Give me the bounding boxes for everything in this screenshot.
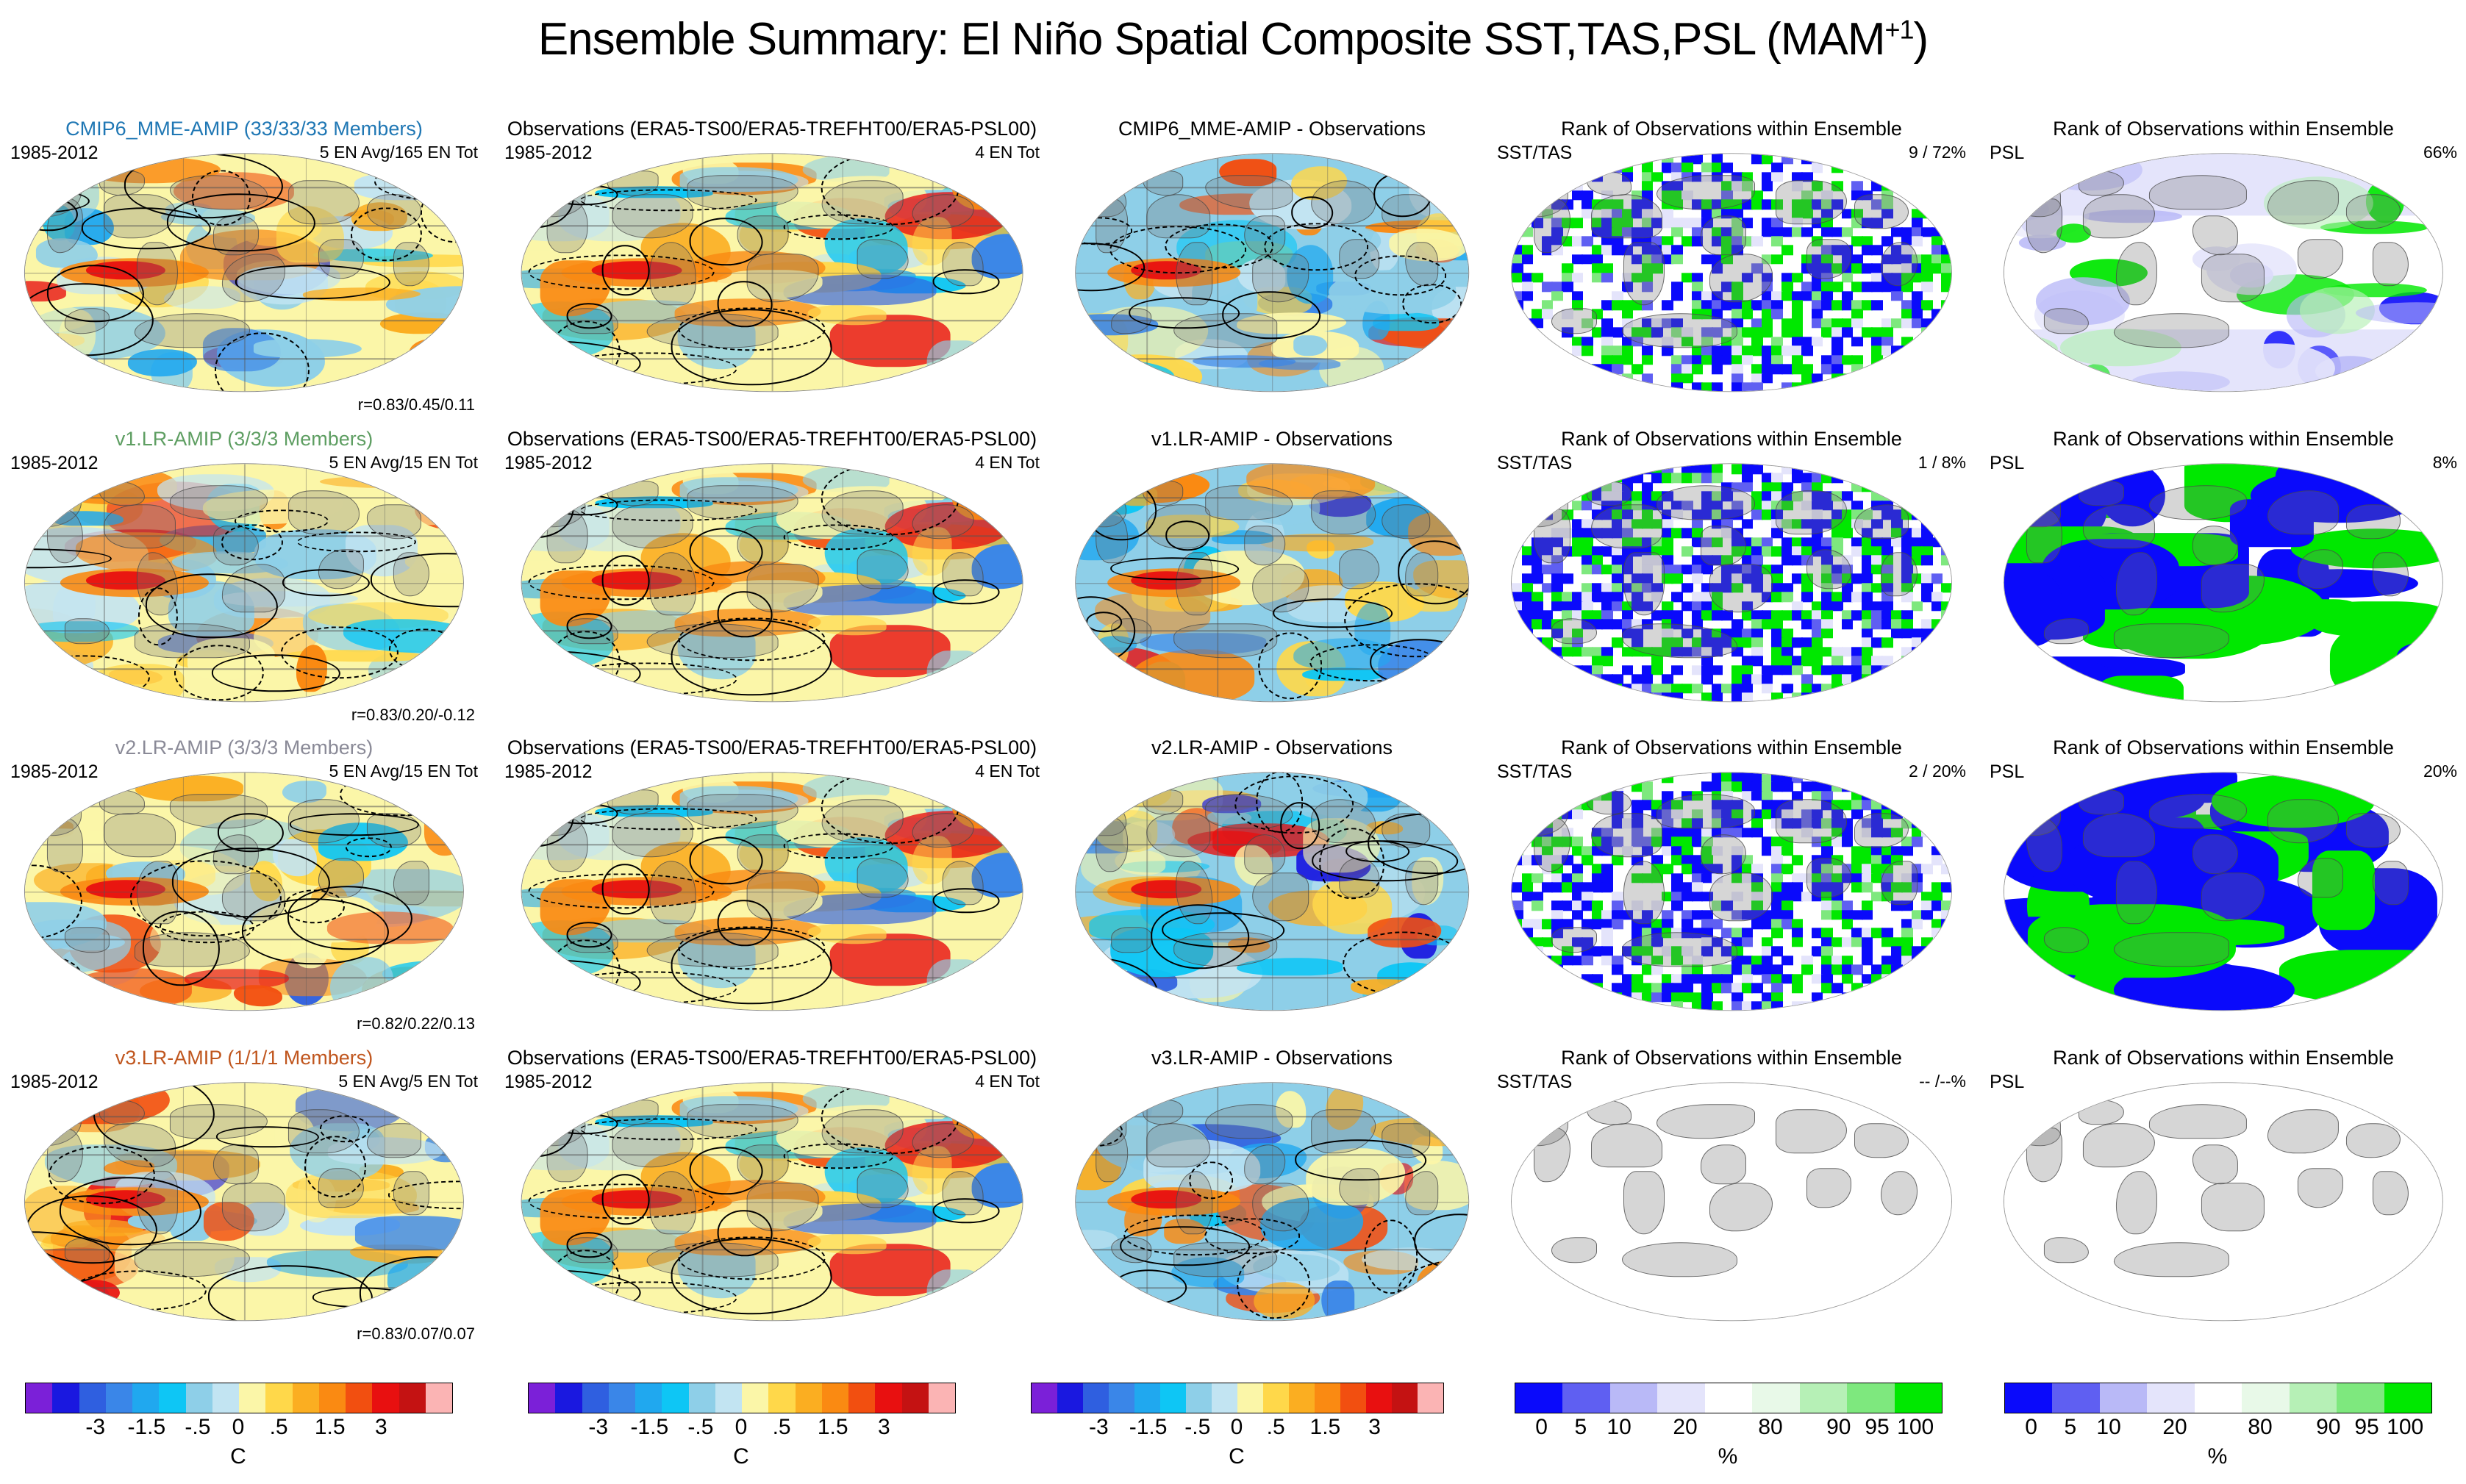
colorbar-tick: 0: [2025, 1415, 2037, 1440]
globe-observations: [500, 770, 1044, 1013]
panel-rank-sst-row2: Rank of Observations within EnsembleSST/…: [1493, 428, 1970, 729]
colorbar-swatch: [902, 1383, 929, 1413]
colorbar-tick: 95: [2354, 1415, 2379, 1440]
panel-difference-row1: CMIP6_MME-AMIP - Observations: [1059, 118, 1485, 419]
colorbar-tick: 3: [375, 1415, 387, 1440]
colorbar-swatch: [1263, 1383, 1289, 1413]
colorbar-swatch: [1289, 1383, 1315, 1413]
colorbar-swatch: [609, 1383, 635, 1413]
colorbar-tick: .5: [1267, 1415, 1285, 1440]
colorbar-tick: 10: [1607, 1415, 1631, 1440]
panel-rank-sst-row4: Rank of Observations within EnsembleSST/…: [1493, 1047, 1970, 1348]
difference-title: v3.LR-AMIP - Observations: [1059, 1047, 1485, 1069]
colorbar-swatch: [1705, 1383, 1752, 1413]
colorbar-tick: 1.5: [818, 1415, 848, 1440]
colorbar-swatch: [1800, 1383, 1847, 1413]
colorbar-tick: -3: [1089, 1415, 1109, 1440]
colorbar-unit: C: [25, 1444, 451, 1469]
colorbar-swatch: [1418, 1383, 1443, 1413]
panel-model-row2: v1.LR-AMIP (3/3/3 Members)1985-20125 EN …: [6, 428, 482, 729]
figure-root: Ensemble Summary: El Niño Spatial Compos…: [0, 0, 2466, 1484]
colorbar-tick: -.5: [185, 1415, 210, 1440]
rank-title: Rank of Observations within Ensemble: [1985, 118, 2462, 140]
panel-difference-row4: v3.LR-AMIP - Observations: [1059, 1047, 1485, 1348]
colorbar-swatch: [212, 1383, 239, 1413]
colorbar-swatch: [742, 1383, 768, 1413]
colorbar-swatch: [1895, 1383, 1942, 1413]
colorbar-swatch: [1315, 1383, 1340, 1413]
colorbar-tick: 20: [1673, 1415, 1697, 1440]
colorbar-tick: 10: [2096, 1415, 2120, 1440]
colorbar-swatch: [848, 1383, 875, 1413]
panel-observations-row2: Observations (ERA5-TS00/ERA5-TREFHT00/ER…: [500, 428, 1044, 729]
colorbar-tick: 100: [2387, 1415, 2423, 1440]
colorbar-swatch: [635, 1383, 662, 1413]
colorbar-tick: 0: [735, 1415, 748, 1440]
panel-rank-sst-row3: Rank of Observations within EnsembleSST/…: [1493, 736, 1970, 1038]
difference-title: v2.LR-AMIP - Observations: [1059, 736, 1485, 759]
difference-title: v1.LR-AMIP - Observations: [1059, 428, 1485, 451]
colorbar-tick: -.5: [687, 1415, 713, 1440]
colorbar-tick: -3: [85, 1415, 105, 1440]
globe-difference: [1059, 770, 1485, 1013]
colorbar-swatch: [2052, 1383, 2099, 1413]
panel-model-row1: CMIP6_MME-AMIP (33/33/33 Members)1985-20…: [6, 118, 482, 419]
rank-title: Rank of Observations within Ensemble: [1493, 428, 1970, 451]
colorbar-swatch: [1212, 1383, 1237, 1413]
colorbar-unit: %: [2004, 1444, 2431, 1469]
model-title: v3.LR-AMIP (1/1/1 Members): [6, 1047, 482, 1069]
colorbar-swatch: [26, 1383, 52, 1413]
colorbar-swatch: [2242, 1383, 2289, 1413]
colorbar-tick: 0: [1231, 1415, 1243, 1440]
colorbar-tick: 95: [1865, 1415, 1889, 1440]
colorbar-swatch: [79, 1383, 106, 1413]
colorbar-swatch: [1237, 1383, 1263, 1413]
observations-title: Observations (ERA5-TS00/ERA5-TREFHT00/ER…: [500, 428, 1044, 451]
correlation-stat: r=0.83/0.07/0.07: [357, 1325, 475, 1344]
colorbar-swatch: [822, 1383, 848, 1413]
colorbar-swatch: [106, 1383, 132, 1413]
globe-model: [6, 770, 482, 1013]
figure-title: Ensemble Summary: El Niño Spatial Compos…: [0, 13, 2466, 65]
colorbar-swatch: [715, 1383, 742, 1413]
colorbar-swatch: [2147, 1383, 2194, 1413]
globe-model: [6, 462, 482, 704]
globe-observations: [500, 462, 1044, 704]
globe-rank-sst: [1493, 770, 1970, 1013]
colorbar-swatch: [1032, 1383, 1057, 1413]
colorbar-swatch: [1752, 1383, 1799, 1413]
colorbar-swatch: [1160, 1383, 1186, 1413]
colorbar-tick: -3: [588, 1415, 608, 1440]
colorbar-tick: 100: [1897, 1415, 1934, 1440]
rank-title: Rank of Observations within Ensemble: [1985, 1047, 2462, 1069]
colorbar-tick: -1.5: [127, 1415, 165, 1440]
colorbar-swatch: [372, 1383, 399, 1413]
colorbar-row: -3-1.5-.50.51.53C-3-1.5-.50.51.53C-3-1.5…: [0, 1383, 2466, 1478]
globe-rank-sst: [1493, 1080, 1970, 1323]
panel-difference-row3: v2.LR-AMIP - Observations: [1059, 736, 1485, 1038]
correlation-stat: r=0.83/0.45/0.11: [358, 395, 475, 415]
rank-title: Rank of Observations within Ensemble: [1493, 118, 1970, 140]
colorbar-swatch: [319, 1383, 346, 1413]
globe-rank-sst: [1493, 151, 1970, 394]
colorbar-swatch: [52, 1383, 79, 1413]
colorbar-swatch: [1186, 1383, 1212, 1413]
colorbar-unit: C: [528, 1444, 954, 1469]
colorbar-swatch: [582, 1383, 609, 1413]
figure-title-superscript: +1: [1884, 14, 1913, 44]
panel-observations-row4: Observations (ERA5-TS00/ERA5-TREFHT00/ER…: [500, 1047, 1044, 1348]
rank-title: Rank of Observations within Ensemble: [1493, 736, 1970, 759]
colorbar-tick: 80: [1758, 1415, 1782, 1440]
colorbar-tick: -1.5: [630, 1415, 668, 1440]
colorbar-swatch: [1340, 1383, 1366, 1413]
globe-rank-sst: [1493, 462, 1970, 704]
rank-title: Rank of Observations within Ensemble: [1985, 736, 2462, 759]
colorbar-swatch: [265, 1383, 292, 1413]
colorbar-tick: 0: [232, 1415, 245, 1440]
panel-rank-psl-row1: Rank of Observations within EnsemblePSL6…: [1985, 118, 2462, 419]
colorbar-swatch: [768, 1383, 795, 1413]
colorbar-tick: 1.5: [1310, 1415, 1341, 1440]
rank-title: Rank of Observations within Ensemble: [1985, 428, 2462, 451]
colorbar-tick: .5: [270, 1415, 288, 1440]
figure-title-main: Ensemble Summary: El Niño Spatial Compos…: [538, 14, 1885, 65]
colorbar-swatch: [1134, 1383, 1160, 1413]
observations-title: Observations (ERA5-TS00/ERA5-TREFHT00/ER…: [500, 1047, 1044, 1069]
colorbar-swatch: [186, 1383, 212, 1413]
colorbar-swatch: [689, 1383, 715, 1413]
globe-observations: [500, 151, 1044, 394]
colorbar-swatch: [1109, 1383, 1134, 1413]
difference-title: CMIP6_MME-AMIP - Observations: [1059, 118, 1485, 140]
panel-rank-psl-row2: Rank of Observations within EnsemblePSL8…: [1985, 428, 2462, 729]
colorbar-swatch: [426, 1383, 452, 1413]
observations-title: Observations (ERA5-TS00/ERA5-TREFHT00/ER…: [500, 736, 1044, 759]
globe-difference: [1059, 462, 1485, 704]
colorbar-swatch: [1083, 1383, 1109, 1413]
colorbar-swatch: [2195, 1383, 2242, 1413]
globe-difference: [1059, 151, 1485, 394]
model-title: v2.LR-AMIP (3/3/3 Members): [6, 736, 482, 759]
colorbar-swatch: [875, 1383, 901, 1413]
colorbar-tick: 80: [2248, 1415, 2272, 1440]
correlation-stat: r=0.82/0.22/0.13: [357, 1014, 475, 1033]
colorbar-swatch: [1366, 1383, 1392, 1413]
colorbar-tick: 20: [2162, 1415, 2187, 1440]
colorbar-swatch: [1847, 1383, 1894, 1413]
colorbar-swatch: [1610, 1383, 1657, 1413]
globe-rank-psl: [1985, 462, 2462, 704]
colorbar-unit: C: [1031, 1444, 1443, 1469]
panel-model-row4: v3.LR-AMIP (1/1/1 Members)1985-20125 EN …: [6, 1047, 482, 1348]
colorbar-swatch: [132, 1383, 159, 1413]
colorbar-swatch: [1657, 1383, 1704, 1413]
correlation-stat: r=0.83/0.20/-0.12: [351, 706, 475, 725]
colorbar-swatch: [2100, 1383, 2147, 1413]
colorbar-tick: 3: [878, 1415, 890, 1440]
globe-model: [6, 1080, 482, 1323]
colorbar-tick: -1.5: [1129, 1415, 1168, 1440]
colorbar-swatch: [1057, 1383, 1083, 1413]
globe-rank-psl: [1985, 151, 2462, 394]
rank-title: Rank of Observations within Ensemble: [1493, 1047, 1970, 1069]
globe-rank-psl: [1985, 770, 2462, 1013]
colorbar-tick: .5: [773, 1415, 791, 1440]
panel-model-row3: v2.LR-AMIP (3/3/3 Members)1985-20125 EN …: [6, 736, 482, 1038]
colorbar-tick: 5: [1575, 1415, 1587, 1440]
colorbar-swatch: [293, 1383, 319, 1413]
panel-observations-row3: Observations (ERA5-TS00/ERA5-TREFHT00/ER…: [500, 736, 1044, 1038]
colorbar-swatch: [346, 1383, 372, 1413]
colorbar-swatch: [2005, 1383, 2052, 1413]
colorbar-tick: -.5: [1184, 1415, 1210, 1440]
globe-rank-psl: [1985, 1080, 2462, 1323]
colorbar-unit: %: [1515, 1444, 1941, 1469]
colorbar-swatch: [2337, 1383, 2384, 1413]
panel-rank-sst-row1: Rank of Observations within EnsembleSST/…: [1493, 118, 1970, 419]
colorbar-tick: 5: [2065, 1415, 2077, 1440]
globe-observations: [500, 1080, 1044, 1323]
globe-model: [6, 151, 482, 394]
colorbar-tick: 0: [1535, 1415, 1548, 1440]
colorbar-swatch: [555, 1383, 582, 1413]
colorbar-swatch: [2384, 1383, 2431, 1413]
colorbar-tick: 90: [2316, 1415, 2340, 1440]
colorbar-swatch: [1515, 1383, 1562, 1413]
colorbar-tick: 3: [1368, 1415, 1381, 1440]
panel-rank-psl-row4: Rank of Observations within EnsemblePSL: [1985, 1047, 2462, 1348]
panel-rank-psl-row3: Rank of Observations within EnsemblePSL2…: [1985, 736, 2462, 1038]
colorbar-swatch: [159, 1383, 185, 1413]
colorbar-swatch: [2290, 1383, 2337, 1413]
colorbar-swatch: [929, 1383, 955, 1413]
colorbar-swatch: [399, 1383, 426, 1413]
panel-observations-row1: Observations (ERA5-TS00/ERA5-TREFHT00/ER…: [500, 118, 1044, 419]
observations-title: Observations (ERA5-TS00/ERA5-TREFHT00/ER…: [500, 118, 1044, 140]
colorbar-swatch: [1392, 1383, 1418, 1413]
model-title: v1.LR-AMIP (3/3/3 Members): [6, 428, 482, 451]
colorbar-swatch: [662, 1383, 688, 1413]
colorbar-tick: 90: [1826, 1415, 1851, 1440]
colorbar-swatch: [239, 1383, 265, 1413]
colorbar-swatch: [796, 1383, 822, 1413]
colorbar-swatch: [1562, 1383, 1609, 1413]
colorbar-swatch: [529, 1383, 555, 1413]
panel-difference-row2: v1.LR-AMIP - Observations: [1059, 428, 1485, 729]
globe-difference: [1059, 1080, 1485, 1323]
colorbar-tick: 1.5: [315, 1415, 346, 1440]
model-title: CMIP6_MME-AMIP (33/33/33 Members): [6, 118, 482, 140]
figure-title-tail: ): [1914, 14, 1929, 65]
